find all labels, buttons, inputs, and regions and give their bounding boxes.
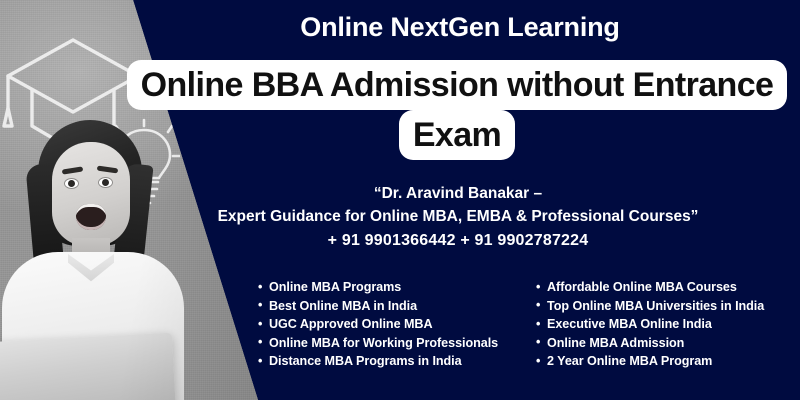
list-item: Executive MBA Online India — [536, 315, 800, 334]
brand-title: Online NextGen Learning — [0, 11, 800, 43]
list-item: 2 Year Online MBA Program — [536, 352, 800, 371]
headline-block: Online BBA Admission without Entrance Ex… — [120, 60, 794, 160]
list-item: Top Online MBA Universities in India — [536, 297, 800, 316]
quote-line-2: Expert Guidance for Online MBA, EMBA & P… — [120, 205, 796, 228]
list-item: UGC Approved Online MBA — [258, 315, 520, 334]
list-item: Online MBA Admission — [536, 334, 800, 353]
keyword-list-right: Affordable Online MBA Courses Top Online… — [536, 278, 800, 371]
quote-block: “Dr. Aravind Banakar – Expert Guidance f… — [120, 182, 796, 253]
list-item: Online MBA for Working Professionals — [258, 334, 520, 353]
list-item: Best Online MBA in India — [258, 297, 520, 316]
list-item: Distance MBA Programs in India — [258, 352, 520, 371]
page-title: Online BBA Admission without Entrance Ex… — [127, 60, 788, 160]
headline-heading: Online BBA Admission without Entrance Ex… — [120, 60, 794, 160]
list-item: Online MBA Programs — [258, 278, 520, 297]
banner-content: Online NextGen Learning Online BBA Admis… — [0, 0, 800, 400]
keyword-list-left: Online MBA Programs Best Online MBA in I… — [258, 278, 520, 371]
keyword-lists: Online MBA Programs Best Online MBA in I… — [258, 278, 800, 371]
list-item: Affordable Online MBA Courses — [536, 278, 800, 297]
promo-banner: Online NextGen Learning Online BBA Admis… — [0, 0, 800, 400]
contact-phone-numbers[interactable]: + 91 9901366442 + 91 9902787224 — [120, 229, 796, 253]
quote-line-1: “Dr. Aravind Banakar – — [120, 182, 796, 205]
